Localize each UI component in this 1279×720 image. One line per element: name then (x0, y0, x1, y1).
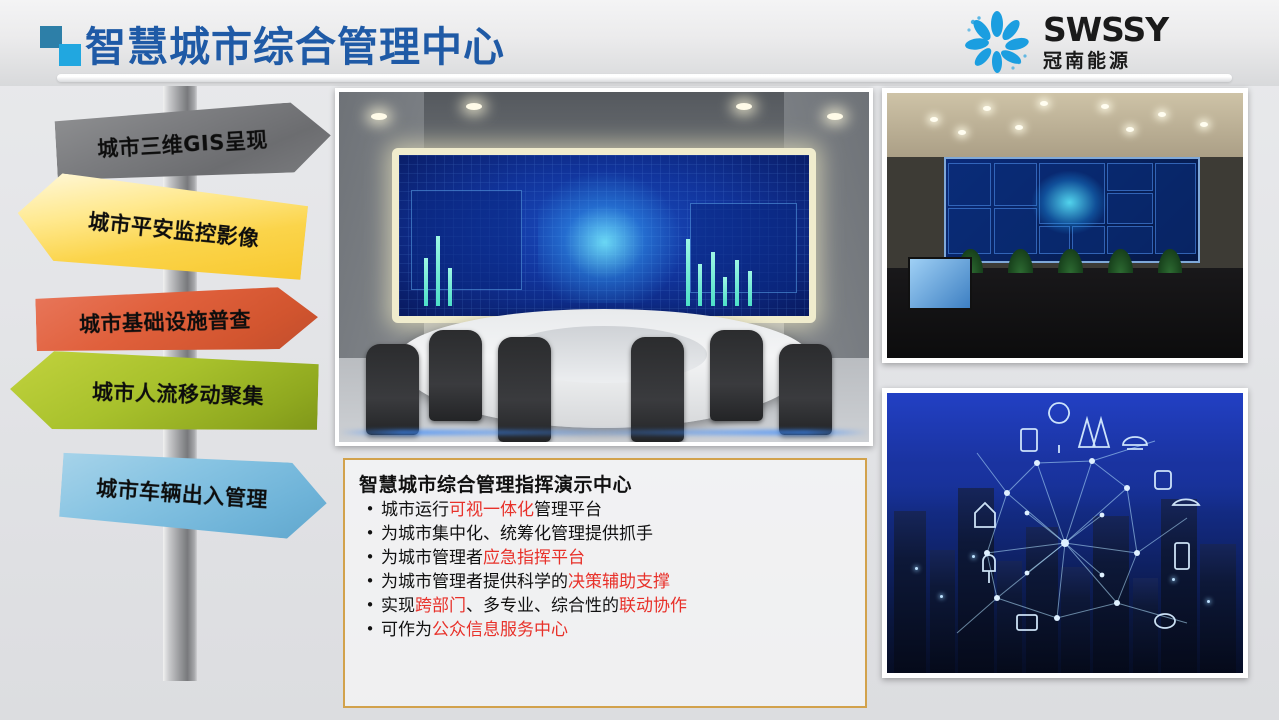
page-header: 智慧城市综合管理中心 (0, 0, 1279, 86)
feature-bullet-item: •城市运行可视一体化管理平台 (359, 502, 849, 519)
logo-brand-cn: 冠南能源 (1043, 48, 1168, 74)
bullet-dot-icon: • (359, 526, 381, 541)
water-drop-petals-logo-icon (961, 10, 1033, 76)
feature-bullet-list: •城市运行可视一体化管理平台•为城市集中化、统筹化管理提供抓手•为城市管理者应急… (359, 502, 849, 639)
sign-label: 城市平安监控影像 (16, 198, 306, 258)
sign-city-infrastructure-survey[interactable]: 城市基础设施普查 (35, 286, 319, 356)
page-title: 智慧城市综合管理中心 (85, 13, 505, 73)
plain-term: 为城市管理者 (381, 548, 483, 568)
sign-label: 城市车辆出入管理 (60, 470, 327, 518)
feature-bullet-text: 为城市管理者提供科学的决策辅助支撑 (381, 574, 849, 591)
highlighted-term: 跨部门 (415, 596, 466, 616)
highlighted-term: 联动协作 (619, 596, 687, 616)
sign-label: 城市三维GIS呈现 (55, 120, 331, 165)
feature-bullet-text: 实现跨部门、多专业、综合性的联动协作 (381, 598, 849, 615)
bullet-dot-icon: • (359, 622, 381, 637)
logo-brand-latin: SWSSY (1043, 12, 1168, 48)
bullet-dot-icon: • (359, 502, 381, 517)
plain-term: 实现 (381, 596, 415, 616)
plain-term: 管理平台 (534, 500, 602, 520)
monitoring-center-video-wall-photo (882, 88, 1248, 363)
highlighted-term: 应急指挥平台 (483, 548, 585, 568)
description-panel: 智慧城市综合管理指挥演示中心 •城市运行可视一体化管理平台•为城市集中化、统筹化… (343, 458, 867, 708)
sign-city-3d-gis[interactable]: 城市三维GIS呈现 (54, 100, 332, 185)
highlighted-term: 公众信息服务中心 (432, 620, 568, 640)
sign-label: 城市基础设施普查 (36, 302, 319, 340)
control-room-round-table-photo (335, 88, 873, 446)
plain-term: 为城市集中化、统筹化管理提供抓手 (381, 524, 653, 544)
sign-city-security-video[interactable]: 城市平安监控影像 (13, 169, 309, 287)
highlighted-term: 可视一体化 (449, 500, 534, 520)
logo-wordmark: SWSSY 冠南能源 (1043, 12, 1168, 74)
sign-city-crowd-flow[interactable]: 城市人流移动聚集 (9, 350, 319, 436)
sign-city-vehicle-access[interactable]: 城市车辆出入管理 (59, 447, 330, 541)
plain-term: 城市运行 (381, 500, 449, 520)
feature-bullet-item: •为城市管理者应急指挥平台 (359, 550, 849, 567)
panel-title: 智慧城市综合管理指挥演示中心 (359, 470, 849, 497)
signpost-group: 城市三维GIS呈现 城市平安监控影像 城市基础设施普查 城市人流移动聚集 城市车… (0, 86, 340, 720)
feature-bullet-item: •可作为公众信息服务中心 (359, 622, 849, 639)
highlighted-term: 决策辅助支撑 (568, 572, 670, 592)
feature-bullet-item: •为城市管理者提供科学的决策辅助支撑 (359, 574, 849, 591)
plain-term: 、多专业、综合性的 (466, 596, 619, 616)
smart-city-network-photo (882, 388, 1248, 678)
square-light (59, 44, 81, 66)
sign-label: 城市人流移动聚集 (10, 374, 319, 412)
bullet-dot-icon: • (359, 598, 381, 613)
plain-term: 为城市管理者提供科学的 (381, 572, 568, 592)
feature-bullet-text: 为城市集中化、统筹化管理提供抓手 (381, 526, 849, 543)
feature-bullet-text: 为城市管理者应急指挥平台 (381, 550, 849, 567)
company-logo: SWSSY 冠南能源 (961, 10, 1231, 76)
bullet-dot-icon: • (359, 550, 381, 565)
feature-bullet-text: 可作为公众信息服务中心 (381, 622, 849, 639)
feature-bullet-item: •为城市集中化、统筹化管理提供抓手 (359, 526, 849, 543)
plain-term: 可作为 (381, 620, 432, 640)
feature-bullet-text: 城市运行可视一体化管理平台 (381, 502, 849, 519)
feature-bullet-item: •实现跨部门、多专业、综合性的联动协作 (359, 598, 849, 615)
bullet-dot-icon: • (359, 574, 381, 589)
